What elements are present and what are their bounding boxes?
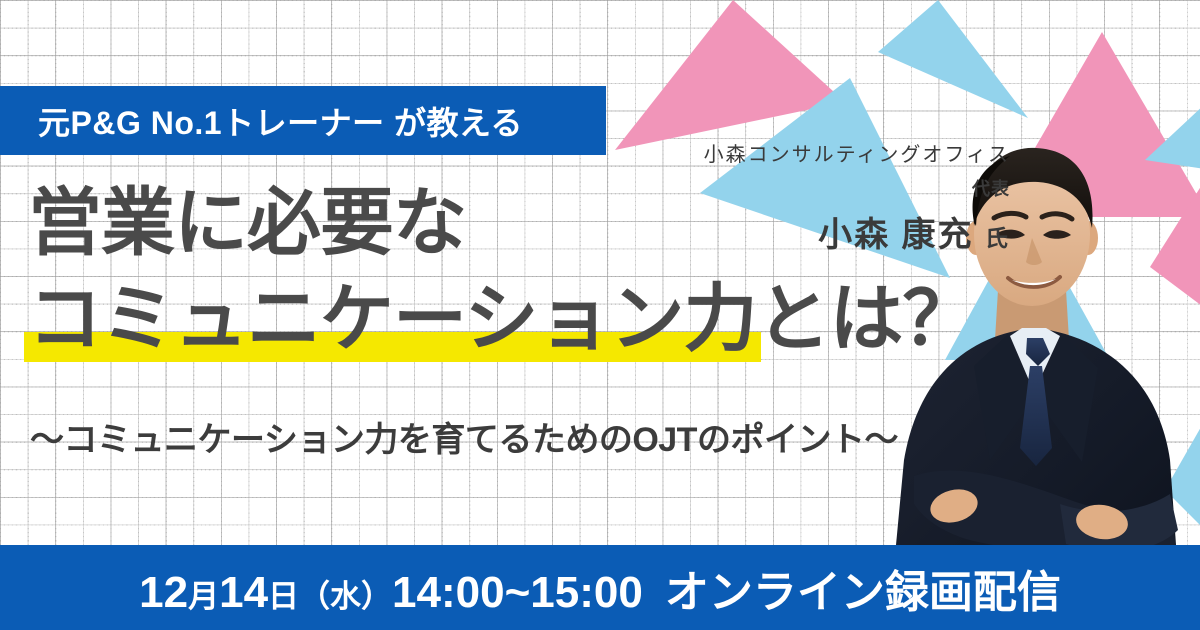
footer-delivery-mode: オンライン録画配信 — [665, 556, 1061, 620]
headline-highlighted-text: コミュニケーション力 — [28, 277, 757, 360]
schedule-text: 12 月 14 日 （水） 14:00 ~ 15:00 オンライン録画配信 — [139, 556, 1061, 620]
speaker-name-text: 小森 康充 — [818, 216, 973, 254]
footer-month: 12 — [139, 568, 188, 618]
subheadline: 〜コミュニケーション力を育てるためのOJTのポイント〜 — [30, 412, 898, 461]
footer-time-end: 15:00 — [530, 568, 643, 618]
footer-weekday: （水） — [299, 571, 392, 616]
headline-highlighted-phrase: コミュニケーション力 — [28, 282, 757, 356]
headline-line-2: コミュニケーション力とは？ — [28, 282, 988, 356]
footer-time-start: 14:00 — [392, 568, 505, 618]
speaker-credit: 小森コンサルティングオフィス 代表 小森 康充 氏 — [704, 138, 1010, 256]
eyebrow-label: 元P&G No.1トレーナー が教える — [38, 98, 523, 144]
footer-day: 14 — [219, 568, 268, 618]
speaker-name-suffix: 氏 — [985, 225, 1010, 251]
speaker-name: 小森 康充 氏 — [704, 207, 1010, 256]
speaker-role: 代表 — [704, 175, 1010, 201]
footer-time-separator: ~ — [505, 568, 531, 618]
footer-month-unit: 月 — [188, 571, 219, 616]
eyebrow-banner: 元P&G No.1トレーナー が教える — [0, 86, 606, 155]
headline-tail-text: とは？ — [757, 277, 976, 360]
schedule-bar: 12 月 14 日 （水） 14:00 ~ 15:00 オンライン録画配信 — [0, 545, 1200, 630]
speaker-company: 小森コンサルティングオフィス — [704, 138, 1010, 167]
footer-day-unit: 日 — [268, 571, 299, 616]
webinar-poster: 元P&G No.1トレーナー が教える 営業に必要な コミュニケーション力とは？… — [0, 0, 1200, 630]
